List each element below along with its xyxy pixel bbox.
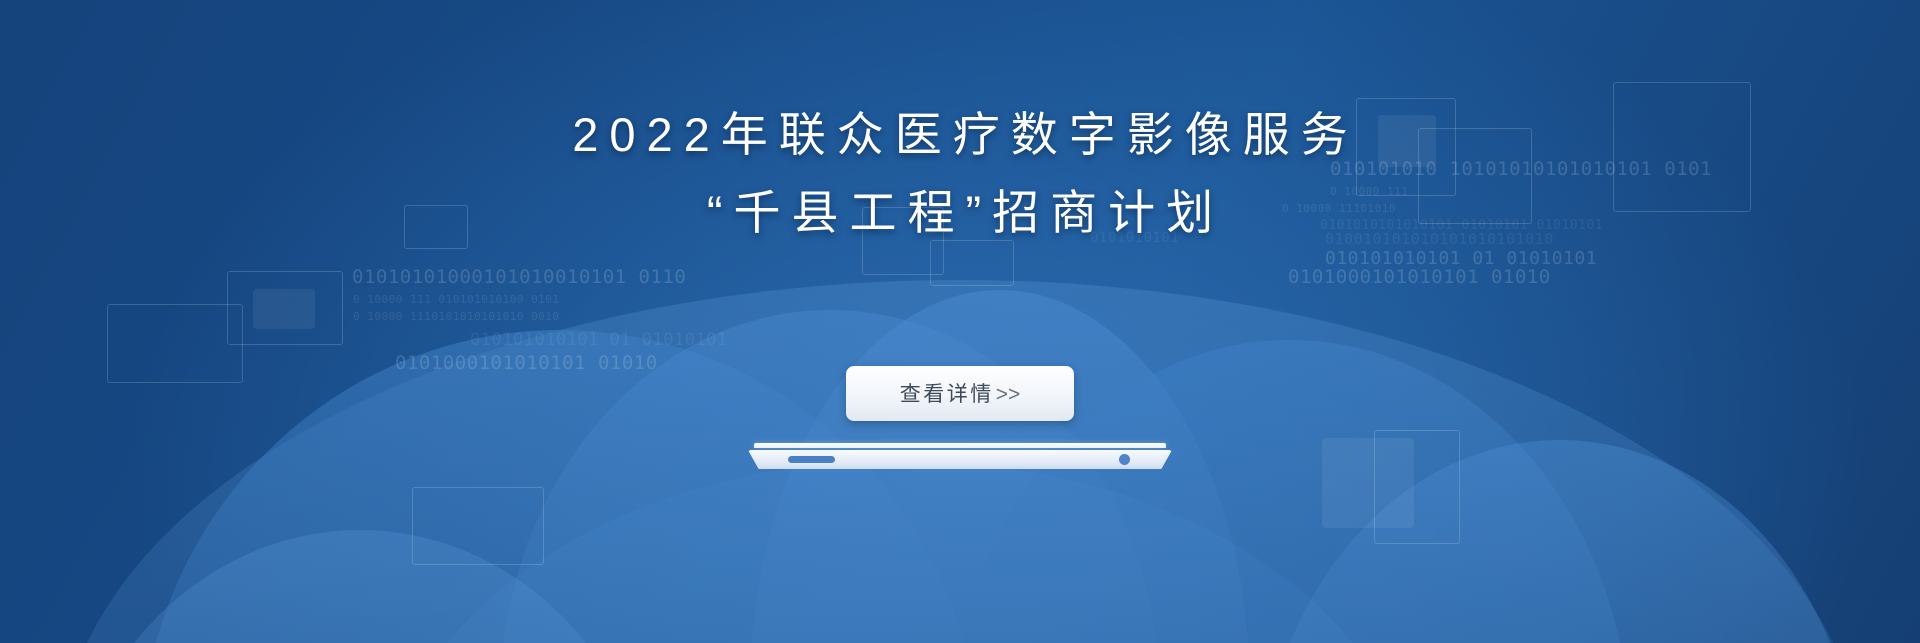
- headline-line-1: 2022年联众医疗数字影像服务: [0, 96, 1920, 174]
- headline-line-2: “千县工程”招商计划: [0, 174, 1920, 252]
- decor-rect-outline-right-3: [1374, 430, 1460, 544]
- promo-banner: 01010101000101010010101 0110 0 10000 111…: [0, 0, 1920, 643]
- decor-rect-fill-left-1: [253, 289, 315, 329]
- decor-binary-text-2: 0 10000 111 010101010100 0101: [353, 293, 560, 306]
- decor-binary-text-4: 010101010101 01 01010101: [470, 330, 728, 350]
- decor-rect-outline-left-4: [412, 487, 544, 565]
- laptop-base-illustration: [748, 443, 1172, 473]
- headline: 2022年联众医疗数字影像服务 “千县工程”招商计划: [0, 96, 1920, 252]
- decor-binary-text-1: 01010101000101010010101 0110: [352, 266, 686, 288]
- decor-rect-outline-left-2: [227, 271, 343, 345]
- decor-rect-fill-right-2: [1322, 438, 1414, 528]
- laptop-lid-edge: [754, 443, 1166, 448]
- chevron-right-icon: >>: [994, 383, 1021, 406]
- view-details-button[interactable]: 查看详情>>: [846, 366, 1074, 421]
- cta-container: 查看详情>>: [0, 366, 1920, 421]
- laptop-trackpad: [788, 456, 835, 463]
- decor-binary-text-3: 0 10000 1110101010101010 0010: [353, 310, 560, 323]
- decor-binary-text-12: 0101000101010101 01010: [1288, 266, 1551, 288]
- laptop-indicator-dot: [1119, 454, 1130, 465]
- view-details-label: 查看详情: [900, 383, 994, 406]
